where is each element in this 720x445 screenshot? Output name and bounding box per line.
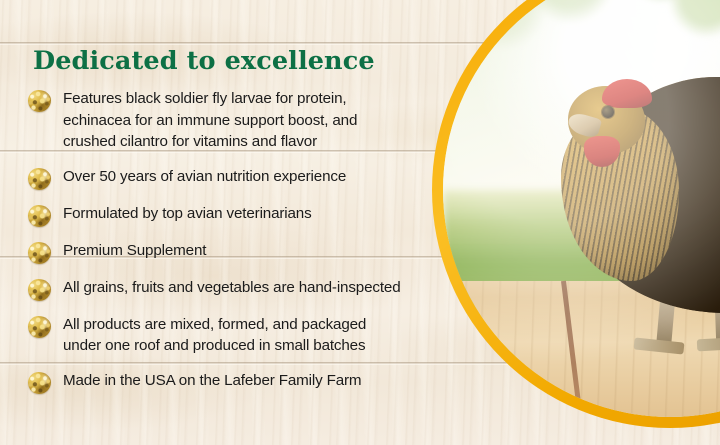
list-item: Formulated by top avian veterinarians <box>28 203 438 227</box>
food-pellet-icon <box>28 279 51 301</box>
food-pellet-icon <box>28 316 51 338</box>
food-pellet-icon <box>28 90 51 112</box>
chicken-photo <box>443 0 720 417</box>
list-item: Made in the USA on the Lafeber Family Fa… <box>28 370 438 394</box>
chicken-figure <box>443 0 720 417</box>
list-item-line: Premium Supplement <box>63 240 206 262</box>
list-item-label: Features black soldier fly larvae for pr… <box>63 88 357 153</box>
list-item: Over 50 years of avian nutrition experie… <box>28 166 438 190</box>
list-item-label: Over 50 years of avian nutrition experie… <box>63 166 346 188</box>
list-item-line: All products are mixed, formed, and pack… <box>63 314 366 336</box>
food-pellet-icon <box>28 168 51 190</box>
page-title: Dedicated to excellence <box>33 46 375 76</box>
food-pellet-icon <box>28 372 51 394</box>
list-item-line: Made in the USA on the Lafeber Family Fa… <box>63 370 361 392</box>
list-item: All products are mixed, formed, and pack… <box>28 314 438 357</box>
food-pellet-icon <box>28 205 51 227</box>
list-item: Features black soldier fly larvae for pr… <box>28 88 438 153</box>
chicken-eye <box>602 106 614 118</box>
list-item-label: Premium Supplement <box>63 240 206 262</box>
list-item-line: Features black soldier fly larvae for pr… <box>63 88 357 110</box>
list-item: Premium Supplement <box>28 240 438 264</box>
list-item-label: Made in the USA on the Lafeber Family Fa… <box>63 370 361 392</box>
feature-list: Features black soldier fly larvae for pr… <box>28 88 438 407</box>
food-pellet-icon <box>28 242 51 264</box>
list-item-line: crushed cilantro for vitamins and flavor <box>63 131 357 153</box>
list-item-line: Over 50 years of avian nutrition experie… <box>63 166 346 188</box>
list-item-label: All products are mixed, formed, and pack… <box>63 314 366 357</box>
chicken-foot <box>697 336 720 351</box>
list-item-label: All grains, fruits and vegetables are ha… <box>63 277 401 299</box>
chicken-comb <box>602 79 652 109</box>
list-item: All grains, fruits and vegetables are ha… <box>28 277 438 301</box>
chicken-foot <box>633 337 684 354</box>
promo-banner: Dedicated to excellence Features black s… <box>0 0 720 445</box>
list-item-label: Formulated by top avian veterinarians <box>63 203 312 225</box>
list-item-line: All grains, fruits and vegetables are ha… <box>63 277 401 299</box>
list-item-line: under one roof and produced in small bat… <box>63 335 366 357</box>
list-item-line: Formulated by top avian veterinarians <box>63 203 312 225</box>
list-item-line: echinacea for an immune support boost, a… <box>63 110 357 132</box>
chicken-photo-ring <box>432 0 720 428</box>
